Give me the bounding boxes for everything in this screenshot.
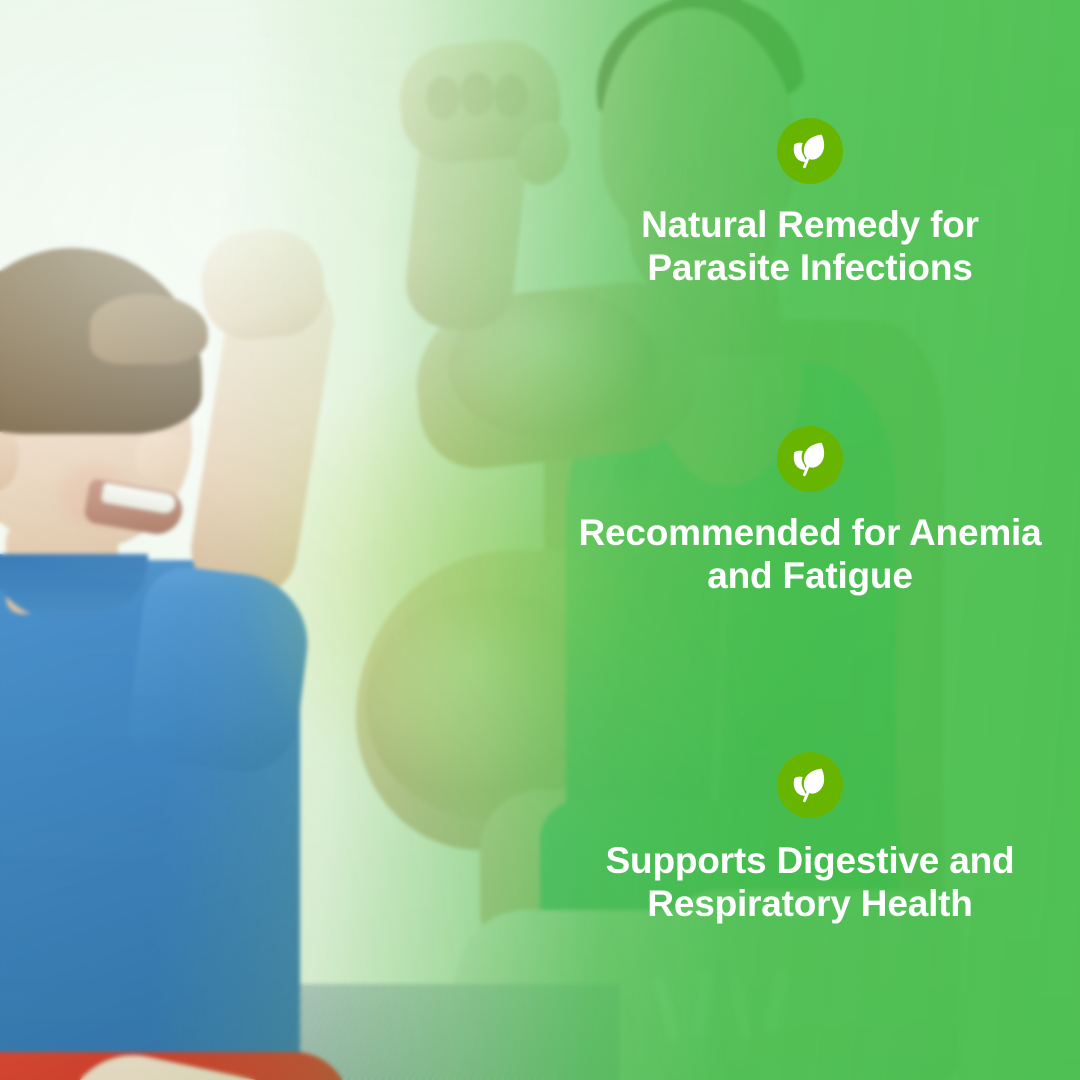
boy-sleeve [125,562,316,777]
feature-line-1: Supports Digestive and [606,840,1015,881]
feature-line-1: Recommended for Anemia [579,512,1042,553]
feature-text: Recommended for Anemia and Fatigue [540,512,1080,598]
feature-text: Supports Digestive and Respiratory Healt… [540,840,1080,926]
promo-banner: Natural Remedy for Parasite Infections R… [0,0,1080,1080]
feature-line-2: and Fatigue [707,555,912,596]
boy-figure [0,236,460,1080]
feature-line-2: Parasite Infections [647,247,972,288]
feature-item-natural-remedy[interactable]: Natural Remedy for Parasite Infections [540,118,1080,290]
feature-list: Natural Remedy for Parasite Infections R… [540,0,1080,1080]
feature-line-2: Respiratory Health [647,883,972,924]
boy-hair [0,248,202,434]
leaf-icon [777,426,843,492]
leaf-icon [777,752,843,818]
man-knuckle [426,76,460,120]
feature-text: Natural Remedy for Parasite Infections [540,204,1080,290]
feature-line-1: Natural Remedy for [641,204,979,245]
feature-item-digestive-respiratory[interactable]: Supports Digestive and Respiratory Healt… [540,752,1080,926]
man-knuckle [494,74,528,118]
man-knuckle [460,72,494,116]
leaf-icon [777,118,843,184]
feature-item-anemia-fatigue[interactable]: Recommended for Anemia and Fatigue [540,426,1080,598]
